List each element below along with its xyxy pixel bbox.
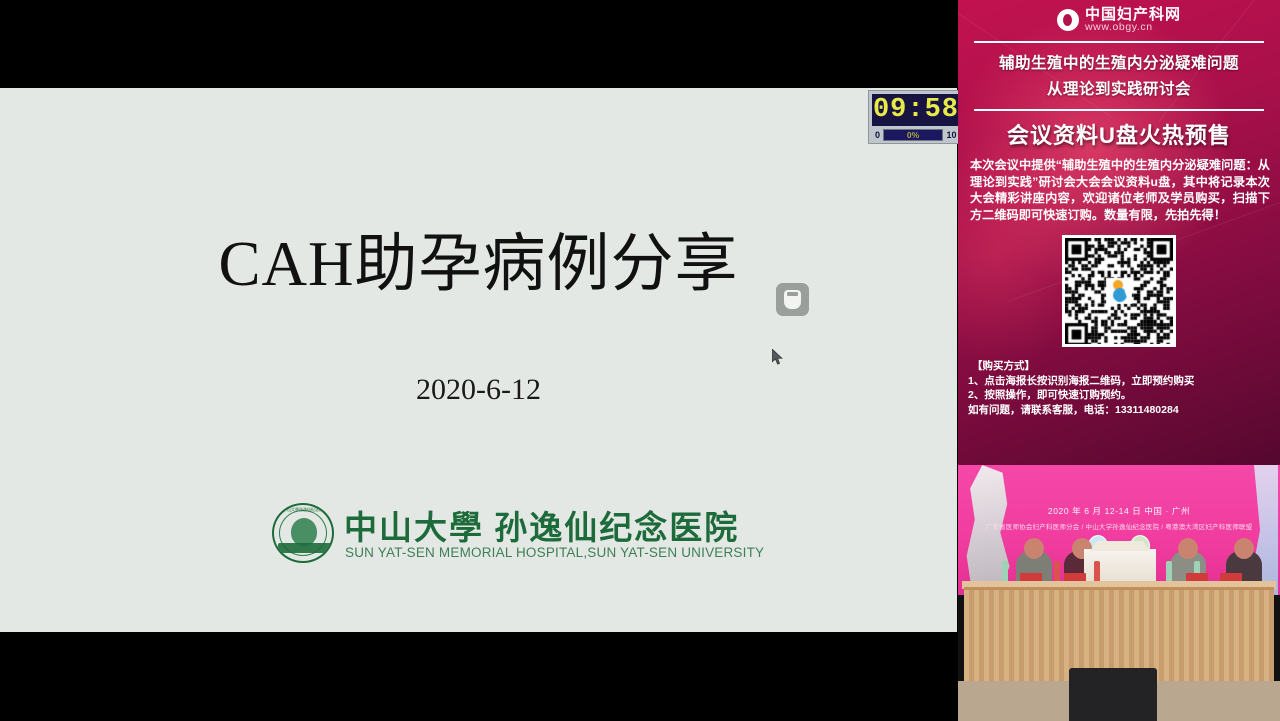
obgy-brand-text: 中国妇产科网 www.obgy.cn (1085, 7, 1181, 34)
usb-drive-icon-button[interactable] (776, 283, 809, 316)
obgy-brand: 中国妇产科网 www.obgy.cn (958, 0, 1280, 37)
live-video-feed[interactable]: 2020 年 6 月 12-14 日 中国 · 广州 广东省医师协会妇产科医师分… (958, 465, 1280, 721)
right-sidebar: 中国妇产科网 www.obgy.cn 辅助生殖中的生殖内分泌疑难问题 从理论到实… (958, 0, 1280, 721)
screen-letterbox-bottom (0, 632, 958, 721)
obgy-brand-name: 中国妇产科网 (1085, 7, 1181, 23)
poster-divider-mid (974, 109, 1264, 111)
university-seal-icon: 中山大學孫逸仙紀念醫院 (272, 503, 334, 563)
water-bottle (1002, 561, 1008, 583)
backdrop-date-text: 2020 年 6 月 12-14 日 中国 · 广州 (958, 505, 1280, 517)
qr-code-image (1065, 238, 1173, 344)
purchase-step-2: 2、按照操作，即可快速订购预约。 (968, 388, 1280, 403)
purchase-title: 【购买方式】 (972, 359, 1280, 374)
poster-divider-top (974, 41, 1264, 43)
foreground-monitor (1069, 668, 1157, 721)
qr-code[interactable] (1062, 235, 1176, 347)
seal-microtext: 中山大學孫逸仙紀念醫院 (274, 507, 334, 513)
backdrop-organizers-text: 广东省医师协会妇产科医师分会 / 中山大学孙逸仙纪念医院 / 粤港澳大湾区妇产科… (958, 521, 1280, 531)
hospital-name-cn: 中山大學 孙逸仙纪念医院 (344, 501, 739, 549)
water-bottle (1166, 561, 1172, 583)
usb-drive-icon (784, 290, 801, 309)
shared-slide-area[interactable]: CAH助孕病例分享 2020-6-12 中山大學孫逸仙紀念醫院 中山大學 孙逸仙… (0, 88, 957, 632)
purchase-instructions: 【购买方式】 1、点击海报长按识别海报二维码，立即预约购买 2、按照操作，即可快… (968, 359, 1280, 417)
hospital-logo: 中山大學孫逸仙紀念醫院 中山大學 孙逸仙纪念医院 SUN YAT-SEN MEM… (272, 503, 672, 565)
seal-banner (278, 543, 332, 553)
purchase-contact: 如有问题，请联系客服，电话：13311480284 (968, 403, 1280, 418)
mouse-cursor (772, 349, 784, 366)
hospital-name-en: SUN YAT-SEN MEMORIAL HOSPITAL,SUN YAT-SE… (345, 545, 764, 560)
timer-lcd-display: 09:58 (872, 94, 960, 126)
conference-title-line1: 辅助生殖中的生殖内分泌疑难问题 (958, 51, 1280, 77)
seal-portrait (291, 518, 317, 546)
slide-title: CAH助孕病例分享 (0, 213, 957, 304)
timer-min-label: 0 (872, 130, 883, 140)
promo-headline: 会议资料U盘火热预售 (958, 118, 1280, 150)
screen-letterbox-top (0, 0, 958, 88)
slide-date: 2020-6-12 (0, 373, 957, 407)
timer-percent-label: 0% (884, 130, 942, 140)
water-bottle (1054, 561, 1060, 583)
conference-title: 辅助生殖中的生殖内分泌疑难问题 从理论到实践研讨会 (958, 51, 1280, 103)
conference-title-line2: 从理论到实践研讨会 (958, 77, 1280, 103)
countdown-timer-widget[interactable]: 09:58 0 0% 10 (868, 90, 964, 144)
timer-remaining-time: 09:58 (872, 94, 960, 126)
water-bottle (1094, 561, 1100, 583)
timer-progress-row: 0 0% 10 (872, 128, 960, 142)
promo-poster[interactable]: 中国妇产科网 www.obgy.cn 辅助生殖中的生殖内分泌疑难问题 从理论到实… (958, 0, 1280, 465)
app-window: CAH助孕病例分享 2020-6-12 中山大學孫逸仙紀念醫院 中山大學 孙逸仙… (0, 0, 1280, 721)
promo-body-text: 本次会议中提供“辅助生殖中的生殖内分泌疑难问题：从理论到实践”研讨会大会会议资料… (970, 157, 1270, 223)
timer-progress-bar[interactable]: 0% (883, 129, 943, 141)
purchase-step-1: 1、点击海报长按识别海报二维码，立即预约购买 (968, 374, 1280, 389)
obgy-brand-url: www.obgy.cn (1085, 22, 1181, 33)
obgy-logo-icon (1057, 9, 1079, 31)
